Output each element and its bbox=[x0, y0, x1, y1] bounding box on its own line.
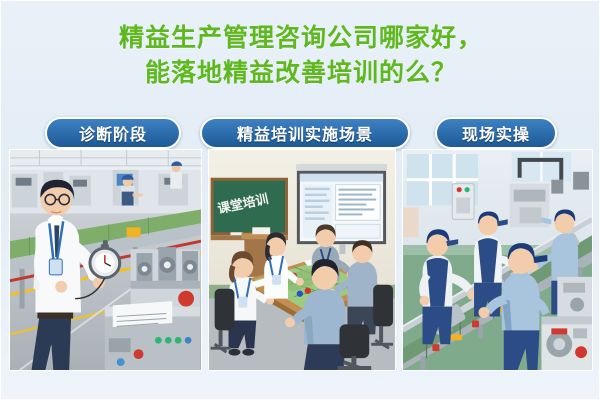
page-title: 精益生产管理咨询公司哪家好， 能落地精益改善培训的么？ bbox=[1, 21, 600, 90]
panel-factory-diagnosis[interactable] bbox=[9, 149, 202, 371]
panel-assembly-line[interactable] bbox=[402, 149, 593, 371]
badge-row: 诊断阶段 精益培训实施场景 现场实操 bbox=[1, 117, 600, 149]
factory-diagnosis-illustration bbox=[10, 150, 201, 370]
panel-row: 课堂培训 bbox=[9, 149, 593, 371]
blackboard: 课堂培训 bbox=[210, 178, 287, 240]
badge-onsite-practice[interactable]: 现场实操 bbox=[435, 117, 557, 149]
badge-diagnosis[interactable]: 诊断阶段 bbox=[45, 117, 181, 149]
panel-classroom-training[interactable]: 课堂培训 bbox=[208, 149, 397, 371]
promo-banner: 精益生产管理咨询公司哪家好， 能落地精益改善培训的么？ 诊断阶段 精益培训实施场… bbox=[0, 0, 600, 400]
badge-training-scene[interactable]: 精益培训实施场景 bbox=[200, 117, 410, 149]
projector-screen bbox=[296, 164, 387, 254]
title-line-2: 能落地精益改善培训的么？ bbox=[1, 56, 600, 91]
assembly-line-illustration bbox=[403, 150, 592, 370]
classroom-training-illustration: 课堂培训 bbox=[209, 150, 396, 370]
title-line-1: 精益生产管理咨询公司哪家好， bbox=[1, 21, 600, 56]
